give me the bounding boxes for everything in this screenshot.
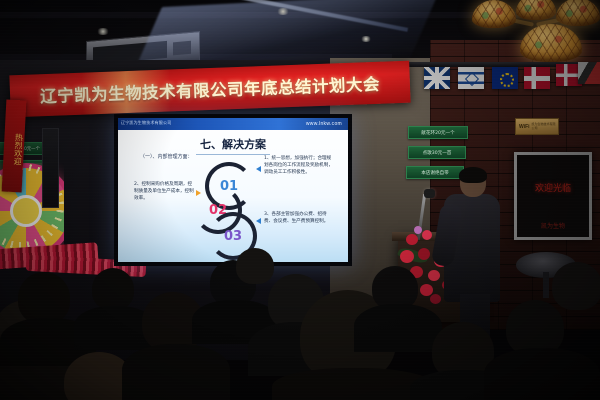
ceiling-spot-light [276, 8, 290, 15]
flower-bloom [430, 294, 441, 304]
wall-sign-flower-price: 献花环20元一个 [408, 126, 468, 139]
chandelier-shade [472, 0, 516, 28]
presenter-hair [459, 167, 487, 183]
flower-bloom [400, 250, 414, 263]
flower-bloom [406, 234, 418, 245]
slide-arrow-left-3 [256, 218, 261, 224]
flower-bloom [428, 270, 440, 281]
audience-shoulders [484, 348, 600, 400]
conference-room-photo: 献花环20元一个 点歌30元一首 辽宁凯为生物技术有限公司年底总结计划大会 热烈… [0, 0, 600, 400]
slide-text-block-3: 3、各部主管加强办公费、招待费、会议费、生产费预算控制。 [264, 212, 334, 226]
wifi-label: WiFi [519, 124, 530, 130]
flag-european-union [492, 67, 518, 89]
flag-united-kingdom [424, 67, 450, 89]
chandelier-shade [516, 0, 556, 20]
ceiling-spot-light [360, 36, 372, 42]
slide-header-url: www.lnkw.com [306, 121, 342, 127]
audience-shoulders [122, 344, 230, 400]
presenter-person [442, 168, 504, 338]
chandelier-main-shade [520, 24, 582, 62]
wifi-info-plate: WiFi 凯为生物技术有限公司 [515, 118, 559, 135]
event-banner-text: 辽宁凯为生物技术有限公司年底总结计划大会 [40, 71, 381, 107]
wall-speaker-column [42, 128, 59, 208]
wall-sign-song-price: 点歌30元一首 [408, 146, 466, 159]
slide-text-block-2: 2、控制采购价格及周期，控制质量及单位生产成本，控制效率。 [134, 182, 196, 203]
flag-extra [578, 62, 600, 84]
audience-head [18, 272, 70, 324]
slide-arrow-right-2 [196, 190, 201, 196]
presentation-slide: 辽宁凯为生物技术有限公司 www.lnkw.com 七、解决方案 （一）、内部管… [118, 118, 348, 262]
bar-stool-leg [543, 272, 549, 298]
slide-header-bar: 辽宁凯为生物技术有限公司 www.lnkw.com [118, 118, 348, 130]
microphone-head [424, 189, 435, 198]
framed-panel-bottom-text: 凯为生物 [517, 221, 589, 230]
wifi-details: 凯为生物技术有限公司 [532, 123, 558, 131]
slide-text-block-1: 1、统一思想，加强执行；合理规划各岗位的工作流程及奖励机制，调动员工工作积极性。 [264, 156, 334, 177]
framed-wall-panel: 欢迎光临 凯为生物 [514, 152, 592, 240]
audience-head [92, 268, 134, 310]
slide-subtitle-left: （一）、内部管理方面： [140, 154, 193, 161]
slide-step-circles: 01 02 03 [196, 162, 252, 256]
slide-title: 七、解决方案 [118, 136, 348, 152]
flower-bloom [418, 248, 430, 260]
ceiling-spot-light [96, 28, 110, 35]
audience-head [552, 262, 600, 310]
framed-panel-top-text: 欢迎光临 [517, 181, 589, 194]
projection-screen: 辽宁凯为生物技术有限公司 www.lnkw.com 七、解决方案 （一）、内部管… [114, 114, 352, 266]
audience-head [236, 248, 274, 284]
chandelier-shade [556, 0, 600, 26]
flower-bloom [422, 230, 432, 240]
slide-arrow-left-1 [256, 166, 261, 172]
slide-header-logo: 辽宁凯为生物技术有限公司 [121, 120, 171, 126]
flower-bloom [414, 226, 422, 234]
audience-shoulders [354, 304, 442, 352]
flag-israel [458, 67, 484, 89]
flag-norway [524, 67, 550, 89]
